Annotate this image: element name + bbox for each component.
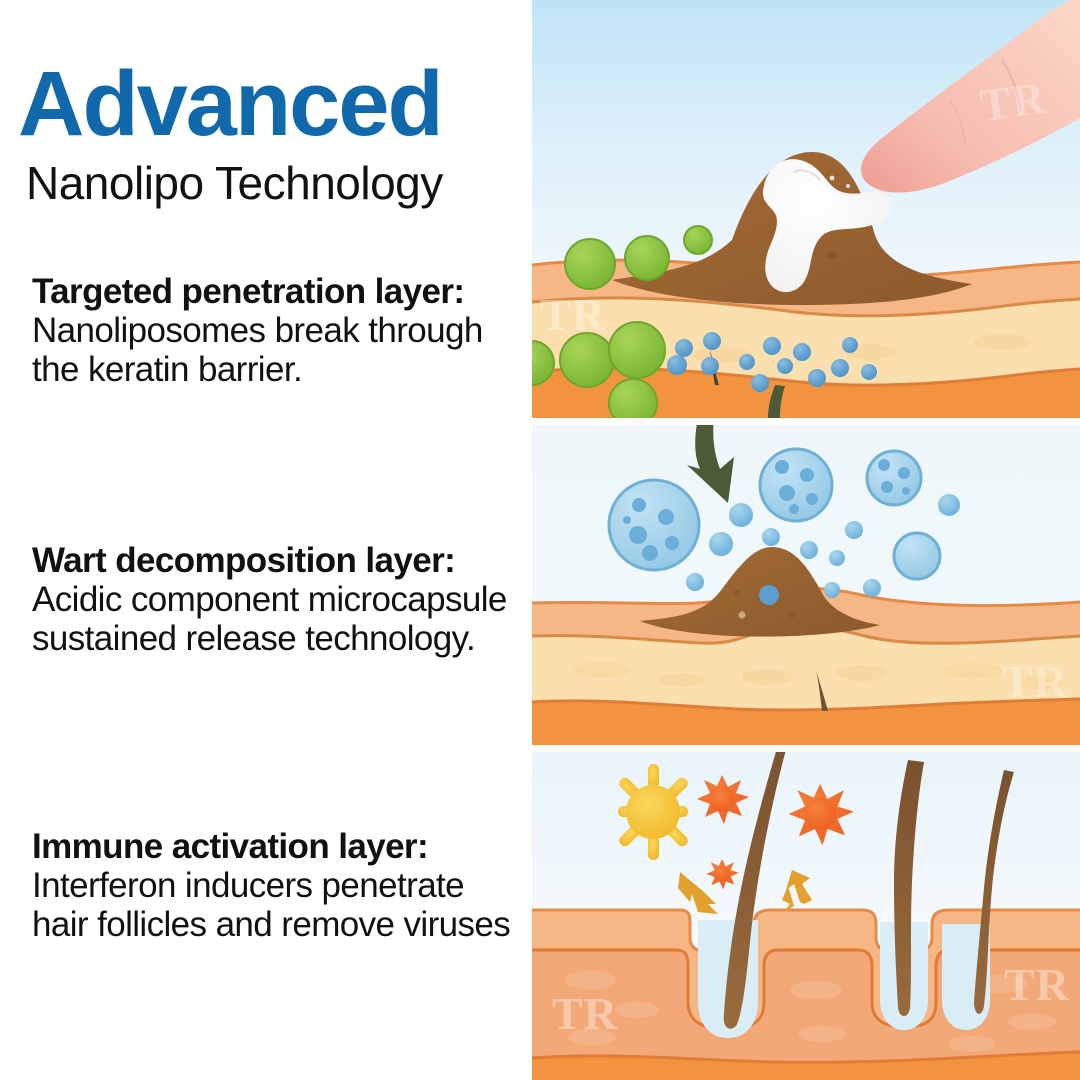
virus-1 <box>697 775 749 824</box>
liposome-3 <box>867 451 921 505</box>
virus-3 <box>789 784 854 845</box>
targeted-penetration-panel: TR TR <box>532 0 1080 418</box>
virus-2 <box>707 859 739 889</box>
feature-block-wart-decomposition: Wart decomposition layer: Acidic compone… <box>32 541 522 658</box>
green-arrow <box>687 425 734 503</box>
text-column: Advanced Nanolipo Technology Targeted pe… <box>0 0 532 1080</box>
arrow-down-left <box>678 872 718 914</box>
wart-decomposition-panel: TR <box>532 425 1080 745</box>
infographic-root: Advanced Nanolipo Technology Targeted pe… <box>0 0 1080 1080</box>
page-title: Advanced <box>18 58 442 150</box>
feature-block-targeted-penetration: Targeted penetration layer: Nanoliposome… <box>32 272 522 389</box>
feature-1-lead: Targeted penetration layer: <box>32 272 464 311</box>
feature-2-body: Acidic component microcapsule sustained … <box>32 580 507 658</box>
fingertip <box>861 0 1080 193</box>
feature-1-body: Nanoliposomes break through the keratin … <box>32 311 483 389</box>
feature-block-immune-activation: Immune activation layer: Interferon indu… <box>32 827 522 944</box>
page-subtitle: Nanolipo Technology <box>26 158 443 208</box>
feature-2-lead: Wart decomposition layer: <box>32 541 455 580</box>
immune-activation-panel: TR TR <box>532 752 1080 1080</box>
feature-3-lead: Immune activation layer: <box>32 827 428 866</box>
liposome-1 <box>609 480 699 570</box>
liposome-4 <box>894 533 940 579</box>
liposome-2 <box>760 449 832 521</box>
illustration-column: TR TR <box>532 0 1080 1080</box>
sun-burst <box>617 764 690 860</box>
feature-3-body: Interferon inducers penetrate hair folli… <box>32 866 510 944</box>
